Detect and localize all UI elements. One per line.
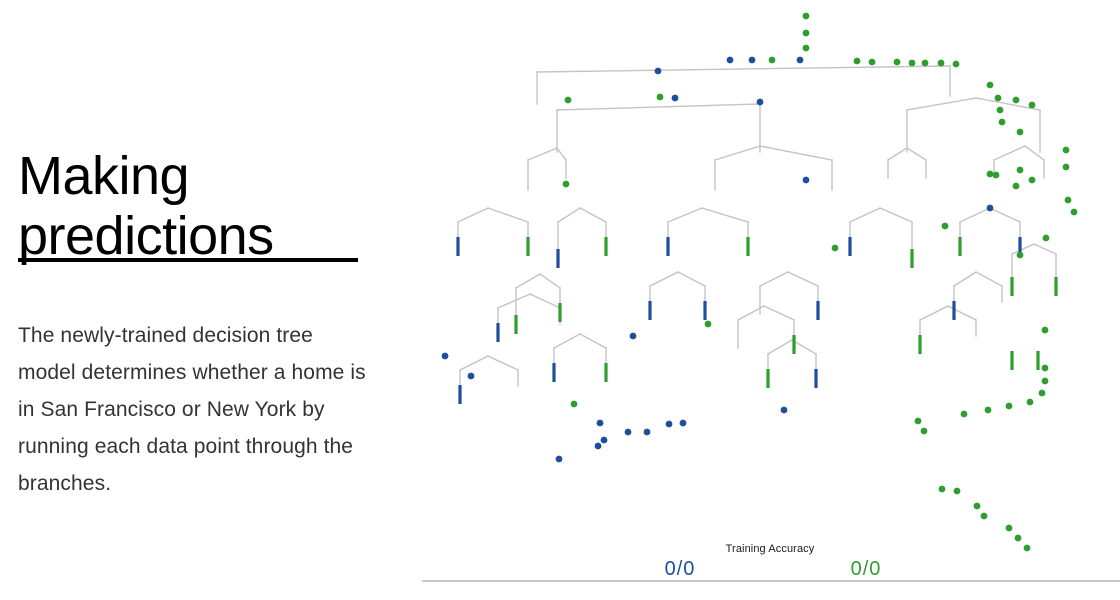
data-point: [597, 420, 604, 427]
accuracy-value-new-york: 0/0: [620, 558, 740, 581]
data-point: [954, 488, 961, 495]
tree-branch: [528, 148, 557, 160]
data-point: [915, 418, 922, 425]
data-point: [803, 13, 810, 20]
data-point: [565, 97, 572, 104]
tree-branch: [460, 356, 488, 370]
tree-branch: [976, 272, 1002, 286]
data-point: [987, 171, 994, 178]
data-point: [999, 119, 1006, 126]
data-point: [974, 503, 981, 510]
tree-branch: [537, 66, 950, 72]
tree-leaf-bar: [792, 335, 795, 354]
tree-branch: [540, 274, 560, 288]
data-point: [769, 57, 776, 64]
tree-leaf-bar: [648, 301, 651, 320]
tree-branch: [948, 306, 976, 320]
tree-leaf-bar: [816, 301, 819, 320]
data-point: [797, 57, 804, 64]
data-point: [803, 30, 810, 37]
data-point: [1027, 399, 1034, 406]
data-point: [1042, 365, 1049, 372]
tree-branch: [1034, 244, 1056, 254]
tree-branch: [558, 208, 580, 222]
tree-branch: [788, 272, 818, 286]
tree-leaf-bar: [526, 237, 529, 256]
data-point: [571, 401, 578, 408]
data-point: [921, 428, 928, 435]
data-point: [595, 443, 602, 450]
data-point: [987, 82, 994, 89]
tree-leaf-bar: [952, 301, 955, 320]
tree-leaf-bar: [910, 249, 913, 268]
tree-branch: [678, 272, 705, 286]
data-point: [781, 407, 788, 414]
training-accuracy-label: Training Accuracy: [420, 543, 1120, 555]
tree-leaf-bar: [1054, 277, 1057, 296]
data-point: [1006, 403, 1013, 410]
tree-branch: [516, 274, 540, 288]
tree-branch: [668, 208, 702, 222]
tree-branch: [888, 148, 907, 160]
data-point: [727, 57, 734, 64]
data-point: [757, 99, 764, 106]
tree-branch: [1025, 146, 1044, 160]
footer-divider: [422, 580, 1120, 582]
data-point: [1063, 147, 1070, 154]
tree-branch: [580, 208, 606, 222]
tree-branch: [768, 340, 792, 354]
data-point: [1065, 197, 1072, 204]
tree-leaf-bar: [1010, 351, 1013, 370]
tree-leaf-bar: [666, 237, 669, 256]
data-point: [1013, 97, 1020, 104]
body-description: The newly-trained decision tree model de…: [18, 317, 366, 502]
tree-branch: [954, 272, 976, 286]
data-point: [997, 107, 1004, 114]
tree-leaf-bar: [1010, 277, 1013, 296]
tree-branch: [557, 148, 566, 160]
data-point: [468, 373, 475, 380]
tree-leaf-bar: [514, 315, 517, 334]
data-point: [1042, 378, 1049, 385]
tree-leaf-bar: [703, 301, 706, 320]
tree-branch: [715, 146, 760, 160]
data-point: [556, 456, 563, 463]
data-point: [657, 94, 664, 101]
data-point: [909, 60, 916, 67]
data-point: [1043, 235, 1050, 242]
tree-branch: [850, 208, 880, 222]
data-point: [655, 68, 662, 75]
data-point: [672, 95, 679, 102]
tree-leaf-bar: [552, 363, 555, 382]
data-point: [601, 437, 608, 444]
data-point: [803, 45, 810, 52]
tree-branch: [488, 356, 518, 370]
tree-branch: [760, 272, 788, 286]
data-point: [625, 429, 632, 436]
tree-branch: [960, 208, 990, 222]
data-point: [922, 60, 929, 67]
data-point: [1063, 164, 1070, 171]
tree-branch: [920, 306, 948, 320]
tree-branch: [994, 146, 1025, 160]
data-point: [442, 353, 449, 360]
data-point: [832, 245, 839, 252]
data-point: [1006, 525, 1013, 532]
data-point: [869, 59, 876, 66]
tree-branch: [557, 104, 760, 110]
tree-branch: [880, 208, 912, 222]
data-point: [1013, 183, 1020, 190]
data-point: [644, 429, 651, 436]
data-point: [1071, 209, 1078, 216]
data-point: [985, 407, 992, 414]
page-title: Making predictions: [18, 146, 398, 266]
data-point: [961, 411, 968, 418]
data-point: [942, 223, 949, 230]
tree-leaf-bar: [456, 237, 459, 256]
data-point: [993, 172, 1000, 179]
tree-canvas[interactable]: [420, 0, 1120, 600]
tree-leaf-bar: [814, 369, 817, 388]
data-point: [987, 205, 994, 212]
tree-branch: [498, 294, 530, 308]
tree-leaf-bar: [746, 237, 749, 256]
explanation-panel: Making predictions The newly-trained dec…: [0, 0, 420, 600]
tree-leaf-bar: [918, 335, 921, 354]
data-point: [1039, 390, 1046, 397]
tree-branch: [990, 208, 1020, 222]
tree-branch: [760, 146, 832, 160]
tree-branch: [458, 208, 488, 222]
decision-tree-visualization[interactable]: Training Accuracy 0/0 0/0: [420, 0, 1120, 600]
data-point: [630, 333, 637, 340]
tree-branch: [702, 208, 748, 222]
tree-leaf-bar: [496, 323, 499, 342]
data-point: [563, 181, 570, 188]
title-divider: [18, 258, 358, 262]
data-point: [981, 513, 988, 520]
tree-branch: [488, 208, 528, 222]
data-point: [680, 420, 687, 427]
tree-leaf-bar: [556, 249, 559, 268]
data-point: [894, 59, 901, 66]
data-point: [1017, 129, 1024, 136]
data-point: [1029, 102, 1036, 109]
training-accuracy-readout: Training Accuracy 0/0 0/0: [420, 540, 1120, 600]
tree-leaf-layer: [456, 237, 1057, 404]
tree-branch: [530, 294, 560, 308]
data-point: [1017, 167, 1024, 174]
tree-branch: [764, 306, 794, 320]
data-point: [939, 486, 946, 493]
tree-branch: [650, 272, 678, 286]
data-point: [953, 61, 960, 68]
tree-branch: [580, 334, 606, 348]
tree-branch-layer: [458, 66, 1056, 386]
data-point: [995, 95, 1002, 102]
data-point: [1017, 252, 1024, 259]
tree-leaf-bar: [958, 237, 961, 256]
data-point: [666, 421, 673, 428]
tree-leaf-bar: [604, 363, 607, 382]
tree-branch: [554, 334, 580, 348]
tree-leaf-bar: [558, 303, 561, 322]
accuracy-value-san-francisco: 0/0: [806, 558, 926, 581]
tree-leaf-bar: [848, 237, 851, 256]
tree-branch: [1012, 244, 1034, 254]
data-point: [1042, 327, 1049, 334]
tree-leaf-bar: [604, 237, 607, 256]
data-point: [1029, 177, 1036, 184]
tree-leaf-bar: [458, 385, 461, 404]
tree-branch: [907, 98, 976, 110]
tree-leaf-bar: [1036, 351, 1039, 370]
data-point: [854, 58, 861, 65]
data-point: [749, 57, 756, 64]
data-point: [803, 177, 810, 184]
tree-branch: [907, 148, 926, 160]
data-point: [938, 60, 945, 67]
tree-leaf-bar: [766, 369, 769, 388]
data-point: [705, 321, 712, 328]
